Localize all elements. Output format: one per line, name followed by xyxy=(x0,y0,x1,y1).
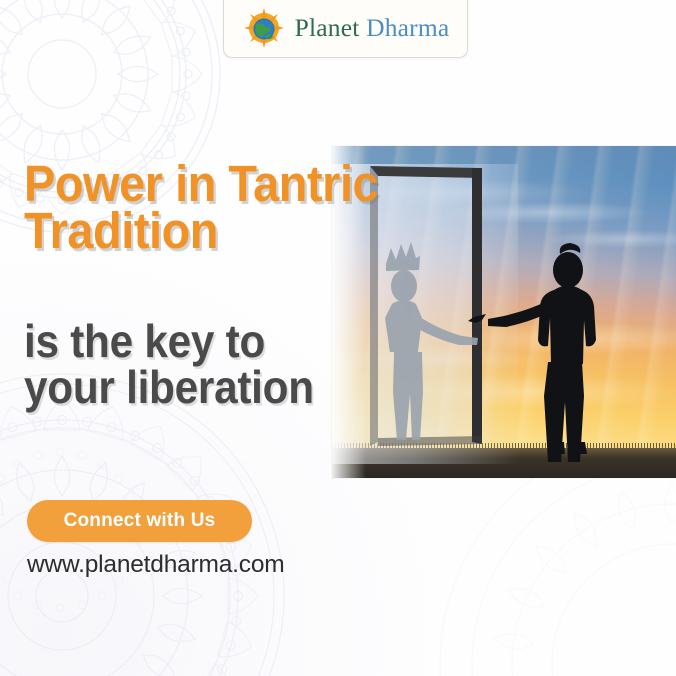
connect-with-us-button[interactable]: Connect with Us xyxy=(27,500,252,542)
website-url-text[interactable]: www.planetdharma.com xyxy=(27,551,284,579)
silhouette-scene xyxy=(332,146,676,478)
headline-line-2: Tradition xyxy=(24,207,328,254)
brand-name-planet: Planet xyxy=(295,13,360,42)
subheadline-line-2: your liberation xyxy=(24,364,337,410)
sun-earth-logo-icon xyxy=(242,6,286,50)
hero-image xyxy=(332,146,676,478)
man-silhouette xyxy=(468,243,596,462)
subheadline-line-1: is the key to xyxy=(24,318,337,364)
brand-wordmark: Planet Dharma xyxy=(295,13,450,43)
poster-canvas: Planet Dharma Power in Tantric Tradition… xyxy=(0,0,676,676)
mirror-frame-icon xyxy=(370,166,482,446)
headline: Power in Tantric Tradition xyxy=(24,160,354,255)
brand-logo-card[interactable]: Planet Dharma xyxy=(223,0,468,58)
headline-line-1: Power in Tantric xyxy=(24,160,328,207)
subheadline: is the key to your liberation xyxy=(24,318,364,410)
brand-name-dharma: Dharma xyxy=(366,13,449,42)
